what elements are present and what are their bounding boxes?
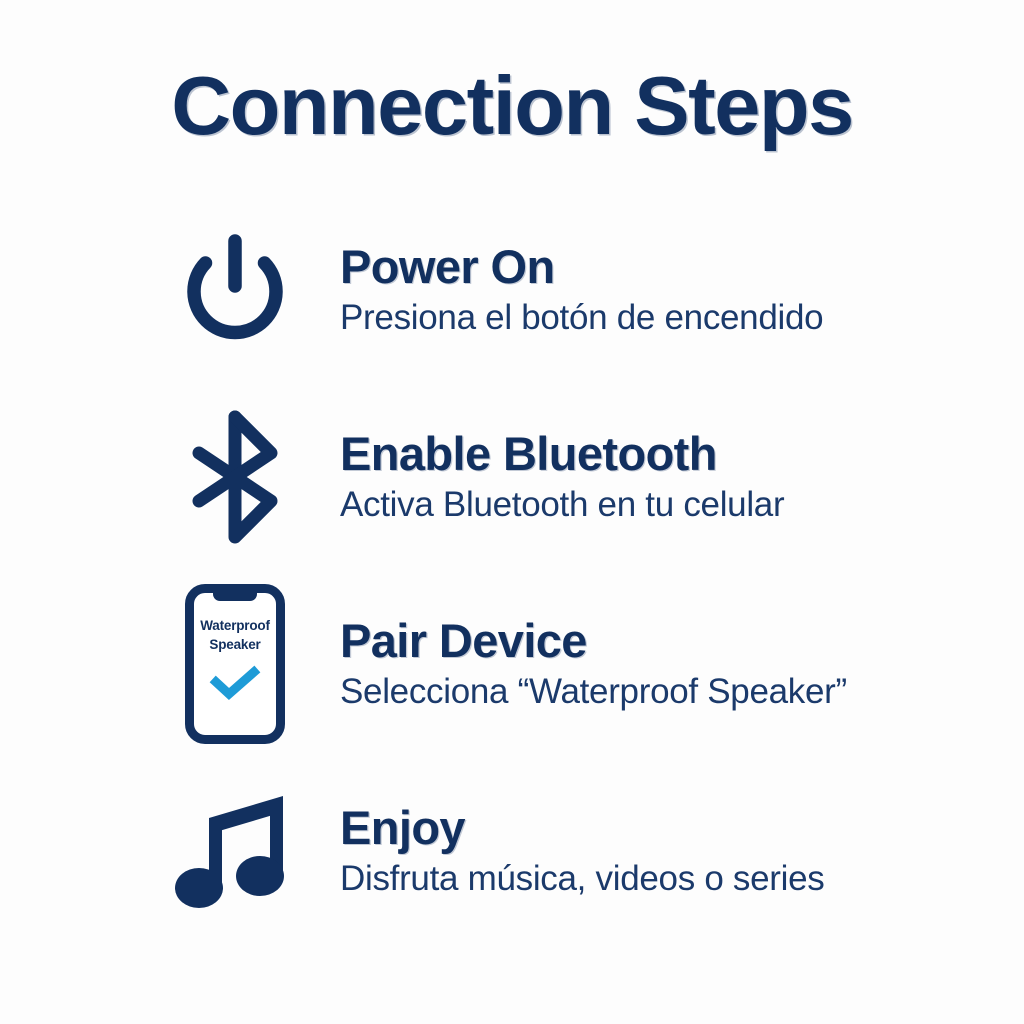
step-text: Enable Bluetooth Activa Bluetooth en tu … — [340, 429, 784, 525]
step-enable-bluetooth: Enable Bluetooth Activa Bluetooth en tu … — [0, 383, 1024, 570]
page-title: Connection Steps — [0, 64, 1024, 147]
step-title: Enable Bluetooth — [340, 429, 784, 480]
power-icon — [150, 210, 320, 370]
step-text: Pair Device Selecciona “Waterproof Speak… — [340, 616, 847, 712]
step-title: Power On — [340, 242, 823, 293]
step-enjoy: Enjoy Disfruta música, videos o series — [0, 757, 1024, 944]
phone-device-name-line2: Speaker — [209, 637, 260, 652]
step-subtitle: Disfruta música, videos o series — [340, 859, 824, 898]
step-title: Enjoy — [340, 803, 824, 854]
steps-list: Power On Presiona el botón de encendido … — [0, 196, 1024, 944]
phone-device-name-line1: Waterproof — [200, 618, 270, 633]
step-text: Power On Presiona el botón de encendido — [340, 242, 823, 338]
phone-icon: Waterproof Speaker — [150, 584, 320, 744]
phone-device-name: Waterproof Speaker — [200, 617, 270, 653]
step-text: Enjoy Disfruta música, videos o series — [340, 803, 824, 899]
phone-frame: Waterproof Speaker — [185, 584, 285, 744]
step-subtitle: Selecciona “Waterproof Speaker” — [340, 672, 847, 711]
step-title: Pair Device — [340, 616, 847, 667]
check-icon — [212, 668, 258, 698]
phone-notch — [213, 592, 257, 601]
step-subtitle: Activa Bluetooth en tu celular — [340, 485, 784, 524]
step-subtitle: Presiona el botón de encendido — [340, 298, 823, 337]
step-power-on: Power On Presiona el botón de encendido — [0, 196, 1024, 383]
step-pair-device: Waterproof Speaker Pair Device Seleccion… — [0, 570, 1024, 757]
bluetooth-icon — [150, 397, 320, 557]
connection-steps-page: Connection Steps Power On Presiona el bo… — [0, 0, 1024, 1024]
music-note-icon — [150, 771, 320, 931]
